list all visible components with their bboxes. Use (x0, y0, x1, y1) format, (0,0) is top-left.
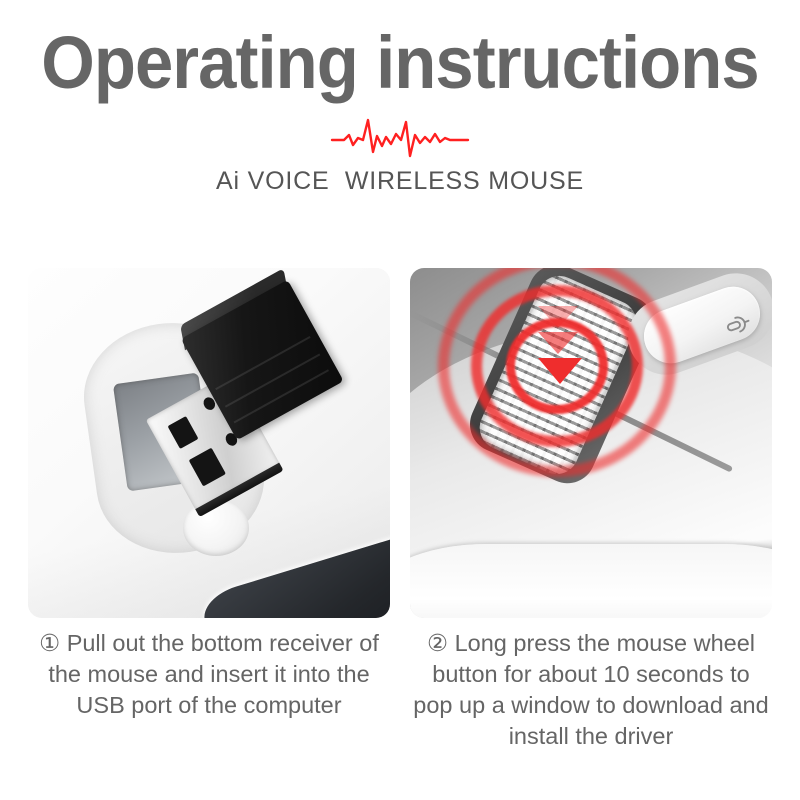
scroll-wheel-photo (410, 268, 772, 618)
header: Operating instructions Ai VOICE WIRELESS… (0, 0, 800, 196)
mouse-base-curve (410, 544, 772, 618)
usb-receiver-photo (28, 268, 390, 618)
down-arrow-icon (538, 332, 578, 354)
usb-housing-ridge (234, 369, 329, 423)
step-2-caption: ② Long press the mouse wheel button for … (410, 628, 772, 752)
usb-contact-hole (168, 416, 199, 449)
usb-housing-ridge (215, 336, 310, 390)
step-1-panel (28, 268, 390, 618)
subtitle: Ai VOICE WIRELESS MOUSE (0, 166, 800, 196)
down-arrow-stack-icon (538, 306, 578, 388)
page-title: Operating instructions (28, 24, 772, 102)
audio-waveform-icon (0, 116, 800, 160)
instruction-photo-panels (28, 268, 772, 618)
instruction-captions: ① Pull out the bottom receiver of the mo… (28, 628, 772, 752)
down-arrow-icon (538, 358, 582, 384)
step-2-panel (410, 268, 772, 618)
step-1-caption: ① Pull out the bottom receiver of the mo… (28, 628, 390, 752)
usb-contact-hole (189, 448, 226, 487)
down-arrow-icon (538, 306, 578, 328)
